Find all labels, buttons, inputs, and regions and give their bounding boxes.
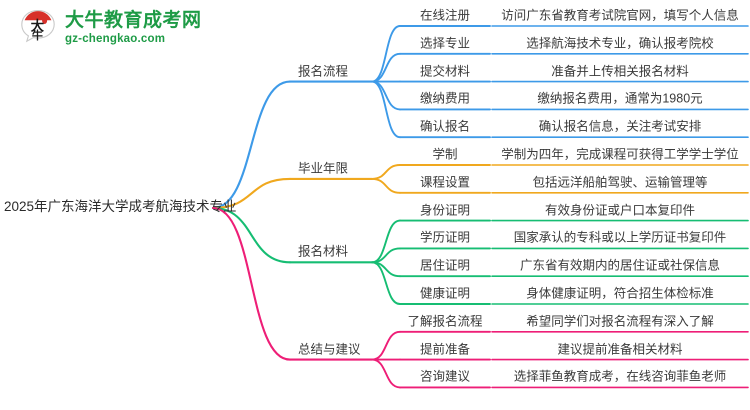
svg-text:牛: 牛 <box>32 28 43 42</box>
detail-node-1-2[interactable]: 选择航海技术专业，确认报考院校 <box>492 37 748 50</box>
topic-node-1-2[interactable]: 选择专业 <box>400 37 490 50</box>
mindmap-canvas: 大 牛 大牛教育成考网 gz-chengkao.com 2025年广东海洋大学成… <box>0 0 750 410</box>
detail-node-3-3[interactable]: 广东省有效期内的居住证或社保信息 <box>492 260 748 273</box>
branch-label-4[interactable]: 总结与建议 <box>298 343 361 356</box>
root-node[interactable]: 2025年广东海洋大学成考航海技术专业 <box>4 200 237 214</box>
detail-node-1-4[interactable]: 缴纳报名费用，通常为1980元 <box>492 93 748 106</box>
topic-node-1-4[interactable]: 缴纳费用 <box>400 93 490 106</box>
branch-label-3[interactable]: 报名材料 <box>298 246 348 259</box>
detail-node-1-5[interactable]: 确认报名信息，关注考试安排 <box>492 121 748 134</box>
topic-node-3-1[interactable]: 身份证明 <box>400 204 490 217</box>
detail-node-4-2[interactable]: 建议提前准备相关材料 <box>492 343 748 356</box>
detail-node-3-2[interactable]: 国家承认的专科或以上学历证书复印件 <box>492 232 748 245</box>
branch-label-2[interactable]: 毕业年限 <box>298 162 348 175</box>
topic-node-4-3[interactable]: 咨询建议 <box>400 371 490 384</box>
detail-node-3-1[interactable]: 有效身份证或户口本复印件 <box>492 204 748 217</box>
daniu-bull-speech-bubble-logo: 大 牛 <box>18 8 58 48</box>
topic-node-1-5[interactable]: 确认报名 <box>400 121 490 134</box>
detail-node-2-2[interactable]: 包括远洋船舶驾驶、运输管理等 <box>492 176 748 189</box>
topic-node-1-3[interactable]: 提交材料 <box>400 65 490 78</box>
detail-node-4-1[interactable]: 希望同学们对报名流程有深入了解 <box>492 315 748 328</box>
logo-subtitle: gz-chengkao.com <box>65 34 202 46</box>
topic-node-4-1[interactable]: 了解报名流程 <box>400 315 490 328</box>
topic-node-1-1[interactable]: 在线注册 <box>400 10 490 23</box>
detail-node-3-4[interactable]: 身体健康证明，符合招生体检标准 <box>492 288 748 301</box>
topic-node-2-1[interactable]: 学制 <box>400 149 490 162</box>
topic-node-3-3[interactable]: 居住证明 <box>400 260 490 273</box>
topic-node-3-4[interactable]: 健康证明 <box>400 288 490 301</box>
detail-node-1-3[interactable]: 准备并上传相关报名材料 <box>492 65 748 78</box>
detail-node-2-1[interactable]: 学制为四年，完成课程可获得工学学士学位 <box>492 149 748 162</box>
logo-title: 大牛教育成考网 <box>65 11 202 30</box>
topic-node-3-2[interactable]: 学历证明 <box>400 232 490 245</box>
detail-node-4-3[interactable]: 选择菲鱼教育成考，在线咨询菲鱼老师 <box>492 371 748 384</box>
detail-node-1-1[interactable]: 访问广东省教育考试院官网，填写个人信息 <box>492 10 748 23</box>
site-logo[interactable]: 大 牛 大牛教育成考网 gz-chengkao.com <box>18 8 202 48</box>
branch-label-1[interactable]: 报名流程 <box>298 65 348 78</box>
topic-node-4-2[interactable]: 提前准备 <box>400 343 490 356</box>
logo-text-block: 大牛教育成考网 gz-chengkao.com <box>65 11 202 46</box>
topic-node-2-2[interactable]: 课程设置 <box>400 176 490 189</box>
